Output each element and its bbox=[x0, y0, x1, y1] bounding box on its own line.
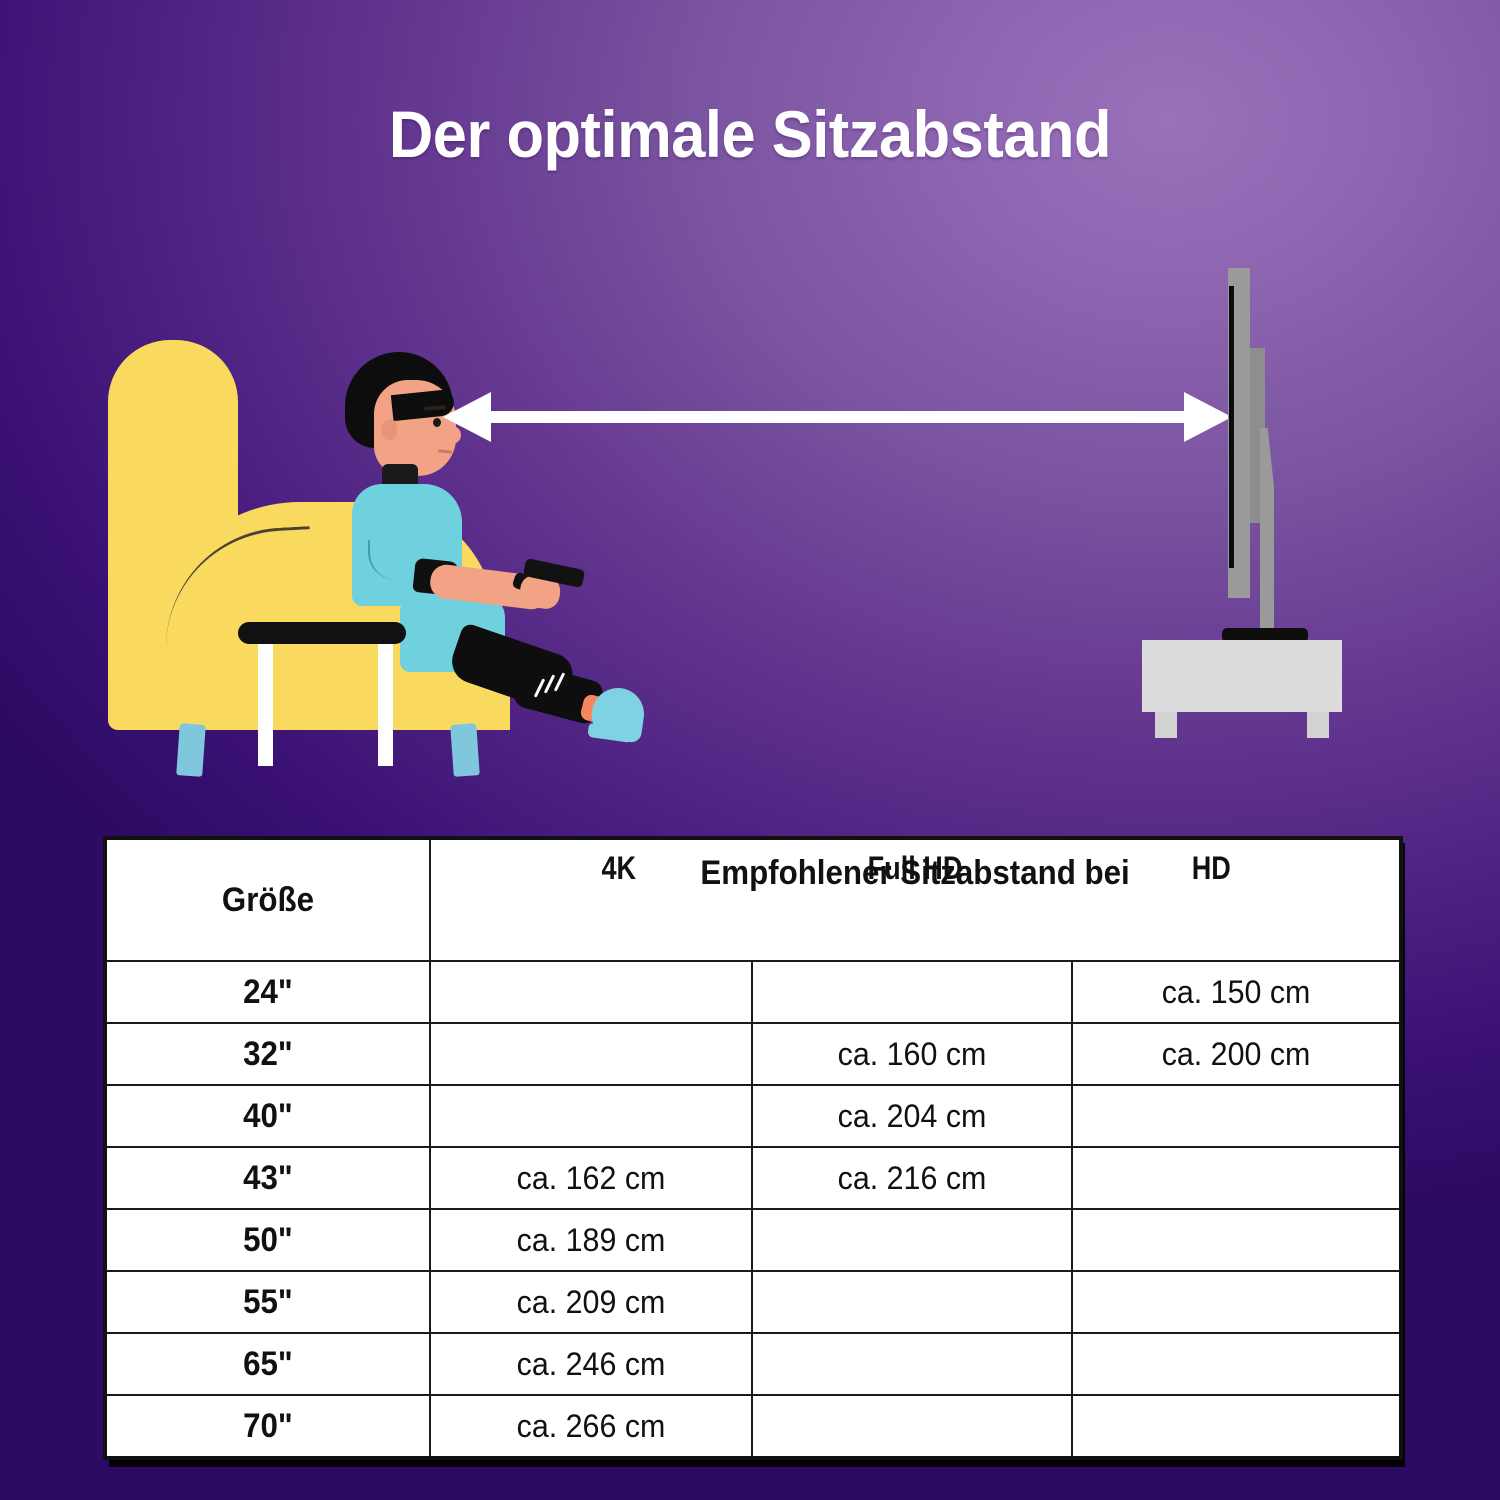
cell-hd bbox=[1080, 1209, 1393, 1271]
table-header-row: Größe Empfohlener Sitzabstand bei 4K Ful… bbox=[105, 838, 1401, 961]
cell-size: 70" bbox=[118, 1395, 417, 1458]
cell-fullhd bbox=[760, 961, 1064, 1023]
cell-fullhd: ca. 204 cm bbox=[760, 1085, 1064, 1147]
page-title: Der optimale Sitzabstand bbox=[53, 96, 1448, 172]
boy-ear bbox=[381, 420, 397, 440]
tv-cabinet-leg-right bbox=[1307, 712, 1329, 738]
table-row: 32" ca. 160 cm ca. 200 cm bbox=[105, 1023, 1401, 1085]
header-group: Empfohlener Sitzabstand bei 4K Full HD H… bbox=[469, 838, 1362, 961]
table-row: 50" ca. 189 cm bbox=[105, 1209, 1401, 1271]
cell-fullhd bbox=[760, 1271, 1064, 1333]
cell-size: 32" bbox=[118, 1023, 417, 1085]
cell-fullhd: ca. 160 cm bbox=[760, 1023, 1064, 1085]
cell-size: 55" bbox=[118, 1271, 417, 1333]
header-col-hd: HD bbox=[1075, 850, 1348, 887]
table-row: 43" ca. 162 cm ca. 216 cm bbox=[105, 1147, 1401, 1209]
cell-hd bbox=[1080, 1333, 1393, 1395]
tv-stand-neck bbox=[1260, 428, 1274, 638]
arrow-head-left-icon bbox=[443, 392, 491, 442]
infographic-canvas: Der optimale Sitzabstand bbox=[0, 0, 1500, 1500]
cell-4k: ca. 162 cm bbox=[438, 1147, 744, 1209]
cell-fullhd bbox=[760, 1209, 1064, 1271]
cell-hd: ca. 200 cm bbox=[1080, 1023, 1393, 1085]
viewing-distance-table: Größe Empfohlener Sitzabstand bei 4K Ful… bbox=[103, 836, 1399, 1460]
tv-cabinet bbox=[1142, 640, 1342, 712]
cell-4k bbox=[438, 1023, 744, 1085]
cell-size: 43" bbox=[118, 1147, 417, 1209]
cell-hd bbox=[1080, 1147, 1393, 1209]
illustration-scene bbox=[0, 240, 1500, 800]
cell-hd bbox=[1080, 1271, 1393, 1333]
armchair-leg-front bbox=[176, 723, 206, 777]
header-col-fullhd: Full HD bbox=[779, 850, 1052, 887]
tv-cabinet-leg-left bbox=[1155, 712, 1177, 738]
cell-hd: ca. 150 cm bbox=[1080, 961, 1393, 1023]
stool-top-bar bbox=[238, 622, 406, 644]
table-row: 24" ca. 150 cm bbox=[105, 961, 1401, 1023]
armchair-leg-back bbox=[450, 723, 480, 777]
cell-size: 65" bbox=[118, 1333, 417, 1395]
cell-4k: ca. 189 cm bbox=[438, 1209, 744, 1271]
cell-size: 24" bbox=[118, 961, 417, 1023]
tv-screen-edge bbox=[1229, 286, 1234, 568]
header-col-4k: 4K bbox=[483, 850, 756, 887]
cell-hd bbox=[1080, 1085, 1393, 1147]
cell-4k: ca. 266 cm bbox=[438, 1395, 744, 1458]
distance-arrow-shaft bbox=[488, 411, 1186, 423]
cell-size: 50" bbox=[118, 1209, 417, 1271]
table-row: 65" ca. 246 cm bbox=[105, 1333, 1401, 1395]
cell-size: 40" bbox=[118, 1085, 417, 1147]
cell-4k: ca. 209 cm bbox=[438, 1271, 744, 1333]
cell-fullhd bbox=[760, 1333, 1064, 1395]
cell-4k: ca. 246 cm bbox=[438, 1333, 744, 1395]
header-size: Größe bbox=[118, 838, 417, 961]
header-subcolumns: 4K Full HD HD bbox=[471, 850, 1360, 887]
stool-leg-left bbox=[258, 638, 273, 766]
cell-4k bbox=[438, 961, 744, 1023]
table-row: 40" ca. 204 cm bbox=[105, 1085, 1401, 1147]
table-row: 70" ca. 266 cm bbox=[105, 1395, 1401, 1458]
cell-fullhd bbox=[760, 1395, 1064, 1458]
boy-eye bbox=[433, 418, 441, 427]
table-row: 55" ca. 209 cm bbox=[105, 1271, 1401, 1333]
cell-hd bbox=[1080, 1395, 1393, 1458]
cell-4k bbox=[438, 1085, 744, 1147]
arrow-head-right-icon bbox=[1184, 392, 1232, 442]
stool-leg-right bbox=[378, 638, 393, 766]
cell-fullhd: ca. 216 cm bbox=[760, 1147, 1064, 1209]
